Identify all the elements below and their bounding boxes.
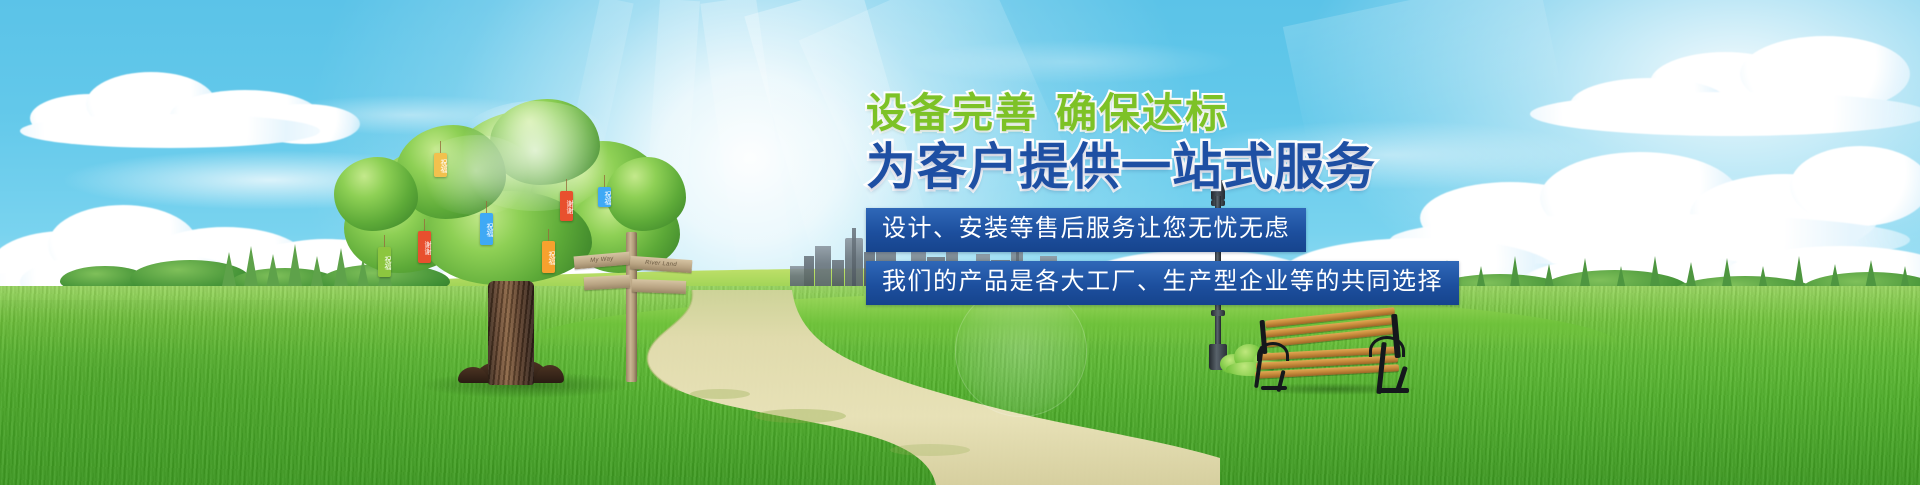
wish-tag: 祝福 [378,247,391,277]
hero-banner: 祝福 谢谢 祝福 谢谢 祝福 祝福 祝福 My Way River Land [0,0,1920,485]
headline-secondary: 为客户提供一站式服务 [866,141,1466,194]
wish-tag: 祝福 [434,153,447,177]
headline-green-part1: 设备完善 [866,90,1038,136]
banner-copy: 设备完善确保达标 为客户提供一站式服务 设计、安装等售后服务让您无忧无虑 我们的… [866,92,1466,305]
tree-trunk [488,281,534,385]
subtitle-bar-2: 我们的产品是各大工厂、生产型企业等的共同选择 [866,261,1459,305]
signpost: My Way River Land [596,232,676,382]
signpost-arm-blank [632,279,686,294]
subtitle-row-2: 我们的产品是各大工厂、生产型企业等的共同选择 [866,252,1466,305]
headline-green-part2: 确保达标 [1056,90,1228,136]
park-bench [1253,312,1413,392]
subtitle-bar-1: 设计、安装等售后服务让您无忧无虑 [866,208,1306,252]
wish-tag: 谢谢 [560,191,573,221]
wish-tag: 谢谢 [418,231,431,263]
wish-tag: 祝福 [542,241,555,273]
subtitle-row-1: 设计、安装等售后服务让您无忧无虑 [866,194,1466,252]
cloud-left-upper [20,60,380,150]
headline-primary: 设备完善确保达标 [866,92,1466,135]
wish-tag: 祝福 [480,213,493,245]
signpost-arm-lower-left [584,275,631,290]
wish-tag: 祝福 [598,187,611,207]
